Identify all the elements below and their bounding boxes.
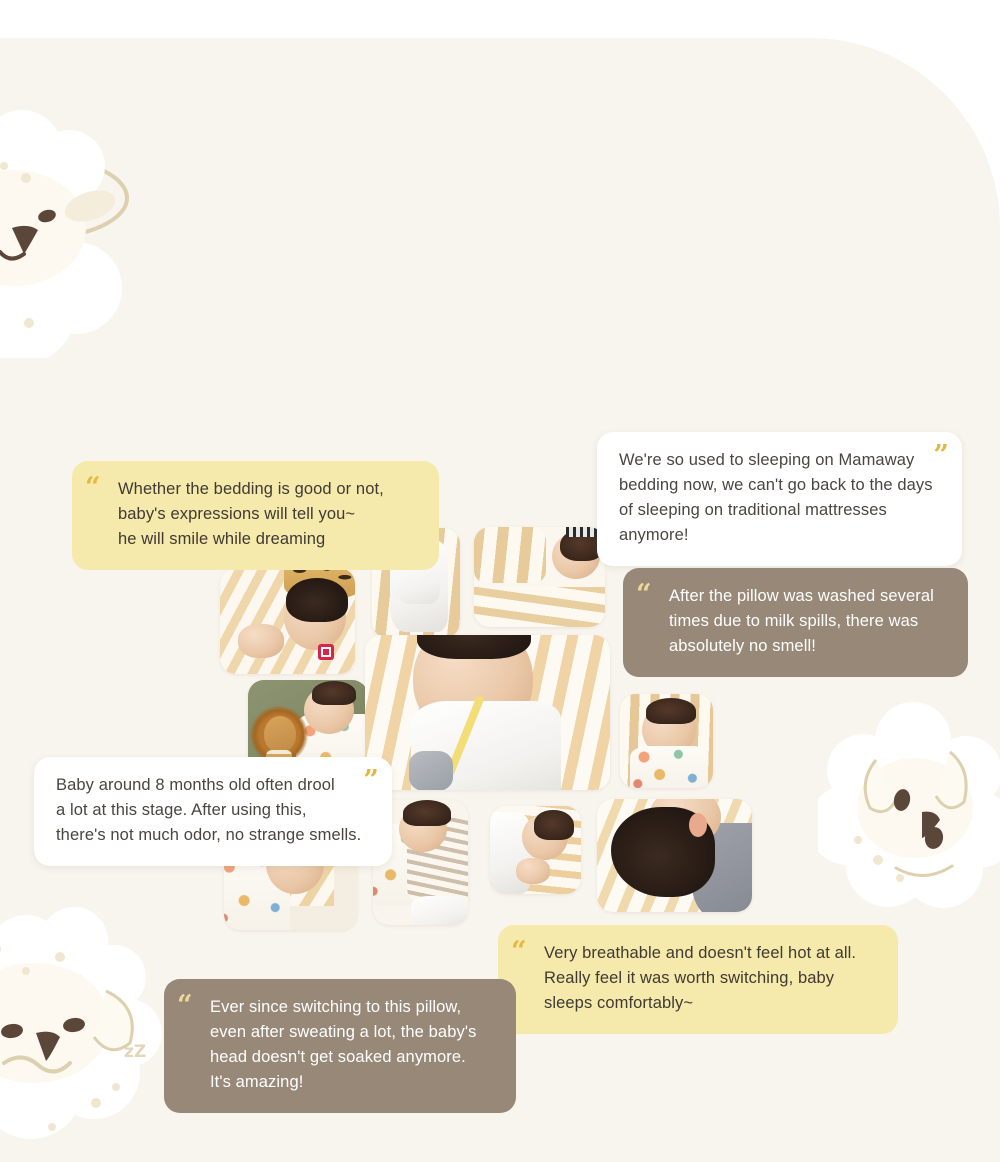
testimonial-bubble-3: “ After the pillow was washed several ti… (623, 568, 968, 677)
quote-close-icon: ” (363, 767, 379, 794)
photo-baby-back-of-head[interactable] (597, 799, 752, 912)
testimonial-page: zZ (0, 0, 1000, 1162)
testimonial-text: Ever since switching to this pillow, eve… (186, 995, 494, 1095)
testimonial-bubble-6: “ Ever since switching to this pillow, e… (164, 979, 516, 1113)
testimonial-bubble-4: ” Baby around 8 months old often drool a… (34, 757, 392, 866)
photo-toddler-sleeping-floral[interactable] (220, 568, 355, 674)
quote-open-icon: “ (85, 474, 101, 501)
photo-baby-closeup-center[interactable] (365, 635, 610, 790)
testimonial-bubble-5: “ Very breathable and doesn't feel hot a… (498, 925, 898, 1034)
testimonial-bubble-1: “ Whether the bedding is good or not, ba… (72, 461, 439, 570)
photo-newborn-head-pillow[interactable] (474, 527, 605, 627)
testimonial-text: Baby around 8 months old often drool a l… (56, 773, 370, 848)
quote-open-icon: “ (636, 581, 652, 608)
quote-close-icon: ” (933, 442, 949, 469)
testimonial-text: After the pillow was washed several time… (645, 584, 946, 659)
quote-open-icon: “ (511, 938, 527, 965)
photo-newborn-swaddle-right[interactable] (620, 694, 713, 788)
testimonial-text: Very breathable and doesn't feel hot at … (520, 941, 876, 1016)
photo-baby-smiling-pillow[interactable] (490, 806, 581, 894)
testimonial-bubble-2: ” We're so used to sleeping on Mamaway b… (597, 432, 962, 566)
testimonial-text: We're so used to sleeping on Mamaway bed… (619, 448, 940, 548)
quote-open-icon: “ (177, 992, 193, 1019)
testimonial-text: Whether the bedding is good or not, baby… (94, 477, 417, 552)
